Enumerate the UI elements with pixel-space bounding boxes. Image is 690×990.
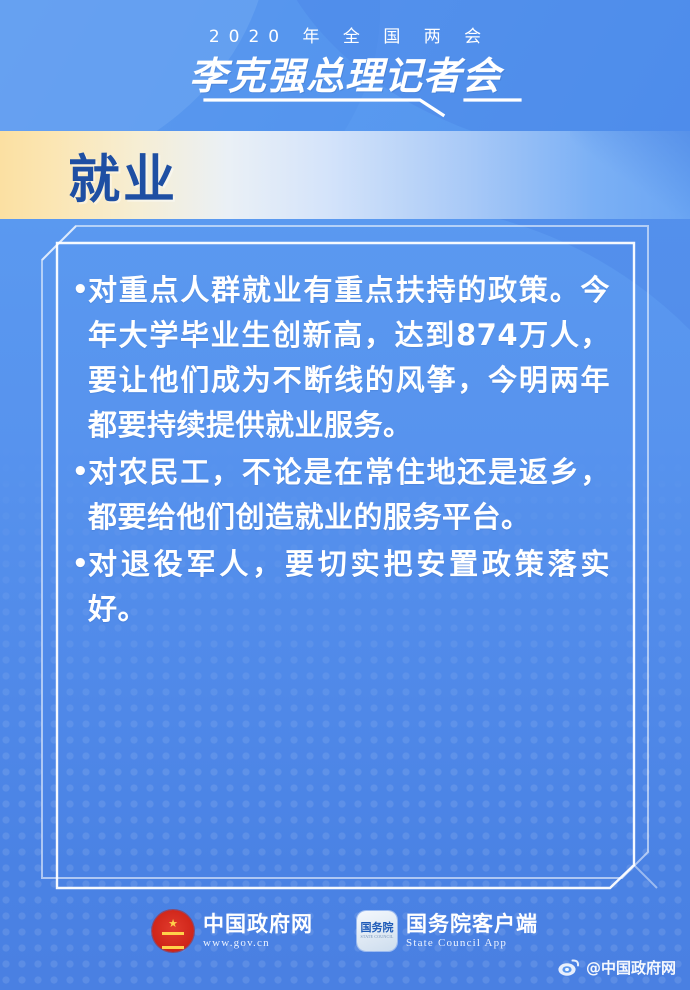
- list-item: • 对农民工，不论是在常住地还是返乡，都要给他们创造就业的服务平台。: [72, 450, 610, 540]
- state-council-app-name: 国务院客户端: [406, 912, 538, 936]
- header-kicker: 2020 年 全 国 两 会: [0, 22, 690, 47]
- app-icon-sublabel: STATE COUNCIL: [360, 934, 393, 940]
- content-bullet-list: • 对重点人群就业有重点扶持的政策。今年大学毕业生创新高，达到874万人，要让他…: [72, 268, 610, 634]
- list-item-text: 对退役军人，要切实把安置政策落实好。: [88, 542, 610, 632]
- bullet-marker-icon: •: [72, 542, 86, 587]
- state-council-app-logo-group: 国务院 STATE COUNCIL 国务院客户端 State Council A…: [357, 911, 538, 951]
- state-council-app-icon: 国务院 STATE COUNCIL: [357, 911, 397, 951]
- weibo-handle: @中国政府网: [586, 957, 676, 978]
- list-item-text: 对农民工，不论是在常住地还是返乡，都要给他们创造就业的服务平台。: [88, 450, 610, 540]
- gov-website-url: www.gov.cn: [203, 936, 313, 950]
- footer: ★ 中国政府网 www.gov.cn 国务院 STATE COUNCIL 国务院…: [0, 894, 690, 990]
- poster-root: 2020 年 全 国 两 会 李克强总理记者会 就业 • 对重点人群就业有重点扶…: [0, 0, 690, 990]
- header-banner: 2020 年 全 国 两 会 李克强总理记者会: [0, 0, 690, 131]
- list-item-text: 对重点人群就业有重点扶持的政策。今年大学毕业生创新高，达到874万人，要让他们成…: [88, 268, 610, 448]
- list-item: • 对重点人群就业有重点扶持的政策。今年大学毕业生创新高，达到874万人，要让他…: [72, 268, 610, 448]
- gov-website-logo-group: ★ 中国政府网 www.gov.cn: [152, 910, 313, 952]
- list-item: • 对退役军人，要切实把安置政策落实好。: [72, 542, 610, 632]
- state-council-app-subtitle: State Council App: [406, 936, 538, 950]
- section-title-band: 就业: [0, 131, 690, 219]
- outer-frame-chamfer-topleft: [42, 226, 76, 260]
- footer-logo-row: ★ 中国政府网 www.gov.cn 国务院 STATE COUNCIL 国务院…: [0, 910, 690, 952]
- gov-website-name: 中国政府网: [203, 912, 313, 936]
- band-corner-shade: [570, 131, 690, 219]
- weibo-icon: [558, 959, 580, 976]
- bullet-marker-icon: •: [72, 450, 86, 495]
- app-icon-label: 国务院: [361, 922, 394, 934]
- weibo-watermark: @中国政府网: [558, 957, 676, 978]
- national-emblem-icon: ★: [152, 910, 194, 952]
- section-title: 就业: [68, 138, 178, 213]
- inner-frame-chamfer-bottomright: [634, 865, 657, 888]
- bullet-marker-icon: •: [72, 268, 86, 313]
- header-title: 李克强总理记者会: [0, 45, 690, 100]
